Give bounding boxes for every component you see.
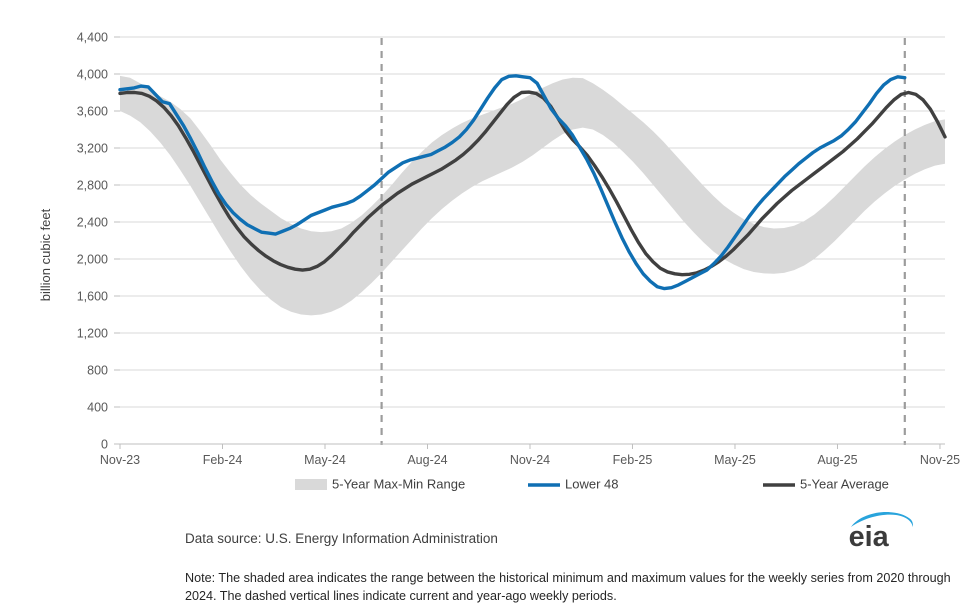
x-tick-label: Feb-25 (613, 453, 653, 467)
y-tick-label: 4,000 (77, 68, 108, 82)
x-tick-label: Feb-24 (203, 453, 243, 467)
x-tick-label: Nov-23 (100, 453, 140, 467)
legend-label: 5-Year Average (800, 476, 889, 491)
y-tick-label: 2,800 (77, 179, 108, 193)
natural-gas-storage-chart: 04008001,2001,6002,0002,4002,8003,2003,6… (0, 0, 979, 505)
y-tick-label: 4,400 (77, 31, 108, 45)
data-source-note: Data source: U.S. Energy Information Adm… (185, 531, 498, 546)
y-tick-label: 0 (101, 438, 108, 452)
eia-logo-text: eia (849, 521, 890, 551)
y-tick-label: 2,400 (77, 216, 108, 230)
eia-logo: eia (845, 509, 917, 551)
x-tick-label: May-24 (304, 453, 346, 467)
y-axis-tick-labels: 04008001,2001,6002,0002,4002,8003,2003,6… (77, 31, 108, 452)
legend-label: Lower 48 (565, 476, 618, 491)
y-tick-label: 800 (87, 364, 108, 378)
legend-item[interactable]: Lower 48 (528, 476, 618, 491)
x-tick-label: Nov-24 (510, 453, 550, 467)
x-axis-tick-labels: Nov-23Feb-24May-24Aug-24Nov-24Feb-25May-… (100, 444, 960, 467)
x-tick-label: Aug-24 (407, 453, 447, 467)
y-tick-label: 2,000 (77, 253, 108, 267)
x-tick-label: Nov-25 (920, 453, 960, 467)
chart-footnote: Note: The shaded area indicates the rang… (185, 570, 957, 606)
y-tick-label: 3,200 (77, 142, 108, 156)
x-tick-label: Aug-25 (817, 453, 857, 467)
chart-legend: 5-Year Max-Min RangeLower 485-Year Avera… (295, 476, 889, 491)
y-tick-label: 3,600 (77, 105, 108, 119)
legend-swatch-range (295, 479, 327, 490)
y-tick-label: 1,600 (77, 290, 108, 304)
legend-item[interactable]: 5-Year Max-Min Range (295, 476, 465, 491)
legend-item[interactable]: 5-Year Average (763, 476, 889, 491)
range-band-area (120, 76, 945, 316)
y-axis-title: billion cubic feet (38, 208, 53, 301)
y-tick-label: 400 (87, 401, 108, 415)
legend-label: 5-Year Max-Min Range (332, 476, 465, 491)
x-tick-label: May-25 (714, 453, 756, 467)
five-year-range-band (120, 76, 945, 316)
y-tick-label: 1,200 (77, 327, 108, 341)
chart-page: 04008001,2001,6002,0002,4002,8003,2003,6… (0, 0, 979, 613)
